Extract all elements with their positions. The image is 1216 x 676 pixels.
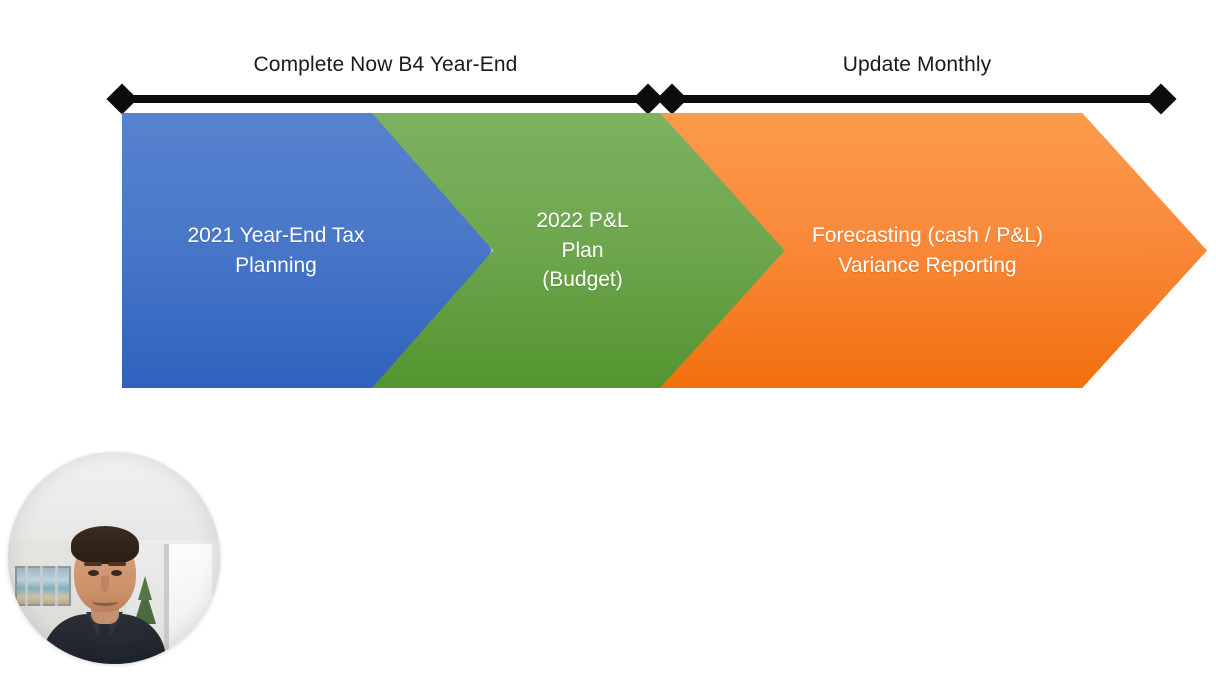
phase-bracket-left bbox=[111, 84, 659, 114]
slide-canvas: Complete Now B4 Year-End Update Monthly … bbox=[0, 0, 1216, 676]
process-chevron-band: 2021 Year-End Tax Planning 2022 P&L Plan… bbox=[0, 113, 1216, 388]
phase-label-left: Complete Now B4 Year-End bbox=[122, 53, 649, 77]
bracket-line bbox=[121, 95, 649, 103]
chevron-step-2-line-1: 2022 P&L bbox=[536, 209, 628, 232]
phase-label-right: Update Monthly bbox=[672, 53, 1162, 77]
chevron-step-1-line-1: 2021 Year-End Tax bbox=[187, 224, 364, 247]
chevron-step-1-line-2: Planning bbox=[235, 254, 317, 277]
chevron-step-1-label: 2021 Year-End Tax Planning bbox=[181, 221, 370, 281]
phase-bracket-right bbox=[661, 84, 1172, 114]
chevron-step-3-label: Forecasting (cash / P&L) Variance Report… bbox=[806, 221, 1049, 281]
bracket-line bbox=[671, 95, 1162, 103]
chevron-step-2-label: 2022 P&L Plan (Budget) bbox=[530, 206, 634, 295]
chevron-step-3-line-2: Variance Reporting bbox=[838, 254, 1016, 277]
diamond-endpoint-icon bbox=[1145, 83, 1176, 114]
chevron-step-2-line-3: (Budget) bbox=[542, 268, 623, 291]
chevron-step-3-line-1: Forecasting (cash / P&L) bbox=[812, 224, 1043, 247]
video-vignette bbox=[8, 452, 220, 664]
chevron-step-2-line-2: Plan bbox=[561, 239, 603, 262]
presenter-video-bubble[interactable] bbox=[8, 452, 220, 664]
